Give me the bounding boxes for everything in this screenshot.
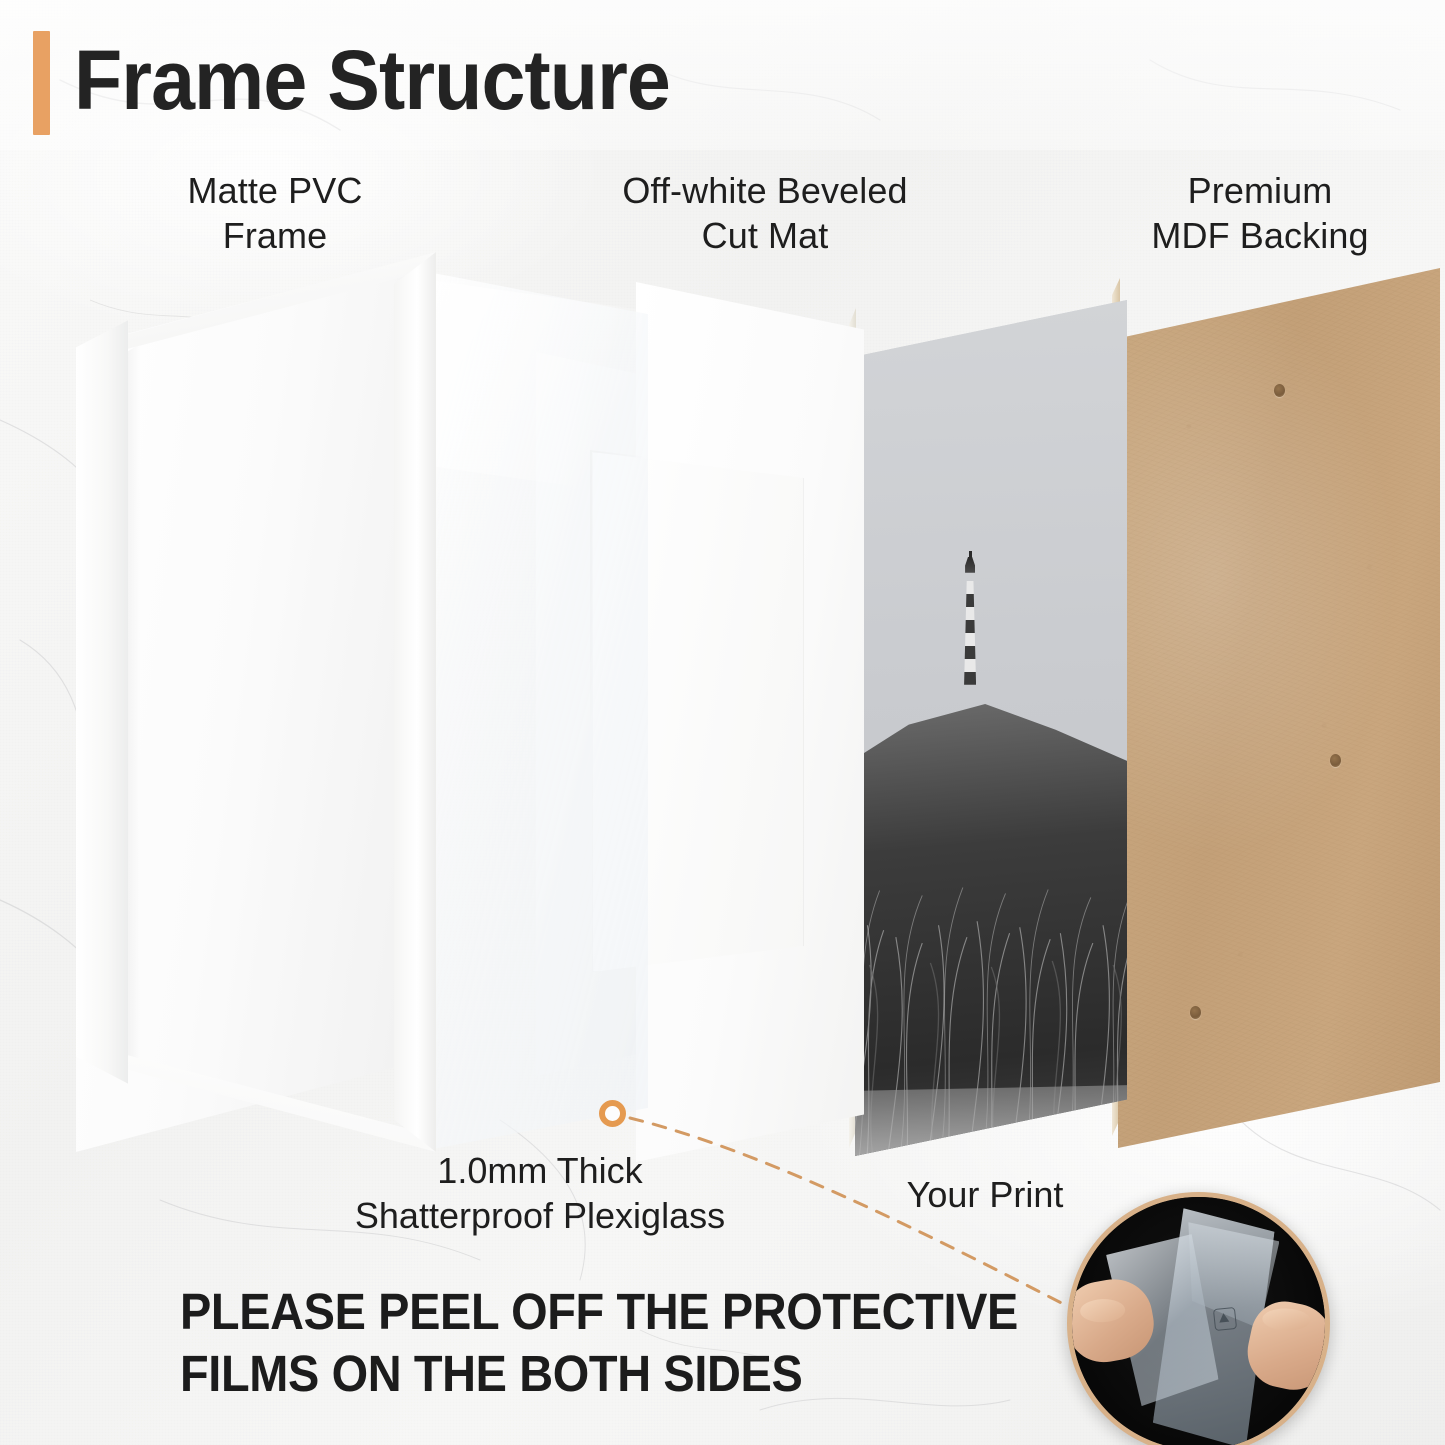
label-line-2: Cut Mat (525, 213, 1005, 258)
callout-marker-dot (599, 1100, 626, 1127)
frame-right-stile (394, 252, 436, 1152)
lighthouse-tower (964, 581, 976, 685)
print-sand (855, 1084, 1127, 1156)
frame-opening (122, 352, 390, 1052)
label-line-2: MDF Backing (1080, 213, 1440, 258)
left-hand-fingers (1080, 1299, 1125, 1323)
mdf-backing-panel (1118, 268, 1440, 1148)
banner-line-2: FILMS ON THE BOTH SIDES (180, 1345, 802, 1403)
banner-line-1: PLEASE PEEL OFF THE PROTECTIVE (180, 1283, 1018, 1341)
lighthouse-lantern (965, 557, 975, 573)
film-logo-icon (1213, 1307, 1237, 1331)
mdf-fiber-texture (1118, 268, 1440, 1148)
mdf-screw (1274, 384, 1285, 397)
label-line-2: Frame (110, 213, 440, 258)
label-line-1: 1.0mm Thick (260, 1148, 820, 1193)
mdf-screw (1330, 754, 1341, 767)
label-cut-mat: Off-white Beveled Cut Mat (525, 168, 1005, 258)
label-line-2: Shatterproof Plexiglass (260, 1193, 820, 1238)
label-line-1: Matte PVC (110, 168, 440, 213)
print-panel (855, 300, 1127, 1156)
peel-film-inset-photo (1067, 1192, 1330, 1445)
right-hand-fingers (1262, 1308, 1311, 1332)
print-grass (855, 677, 1127, 1156)
label-mdf-backing: Premium MDF Backing (1080, 168, 1440, 258)
frame-left-stile (76, 252, 128, 1152)
mdf-screw (1190, 1006, 1201, 1019)
label-line-1: Off-white Beveled (525, 168, 1005, 213)
label-matte-pvc-frame: Matte PVC Frame (110, 168, 440, 258)
pvc-frame (76, 252, 436, 1152)
label-line-1: Premium (1080, 168, 1440, 213)
label-plexiglass: 1.0mm Thick Shatterproof Plexiglass (260, 1148, 820, 1238)
infographic-canvas: Frame Structure (0, 0, 1445, 1445)
lighthouse-icon (961, 557, 979, 685)
peel-instruction-banner: PLEASE PEEL OFF THE PROTECTIVE FILMS ON … (150, 1283, 1050, 1413)
